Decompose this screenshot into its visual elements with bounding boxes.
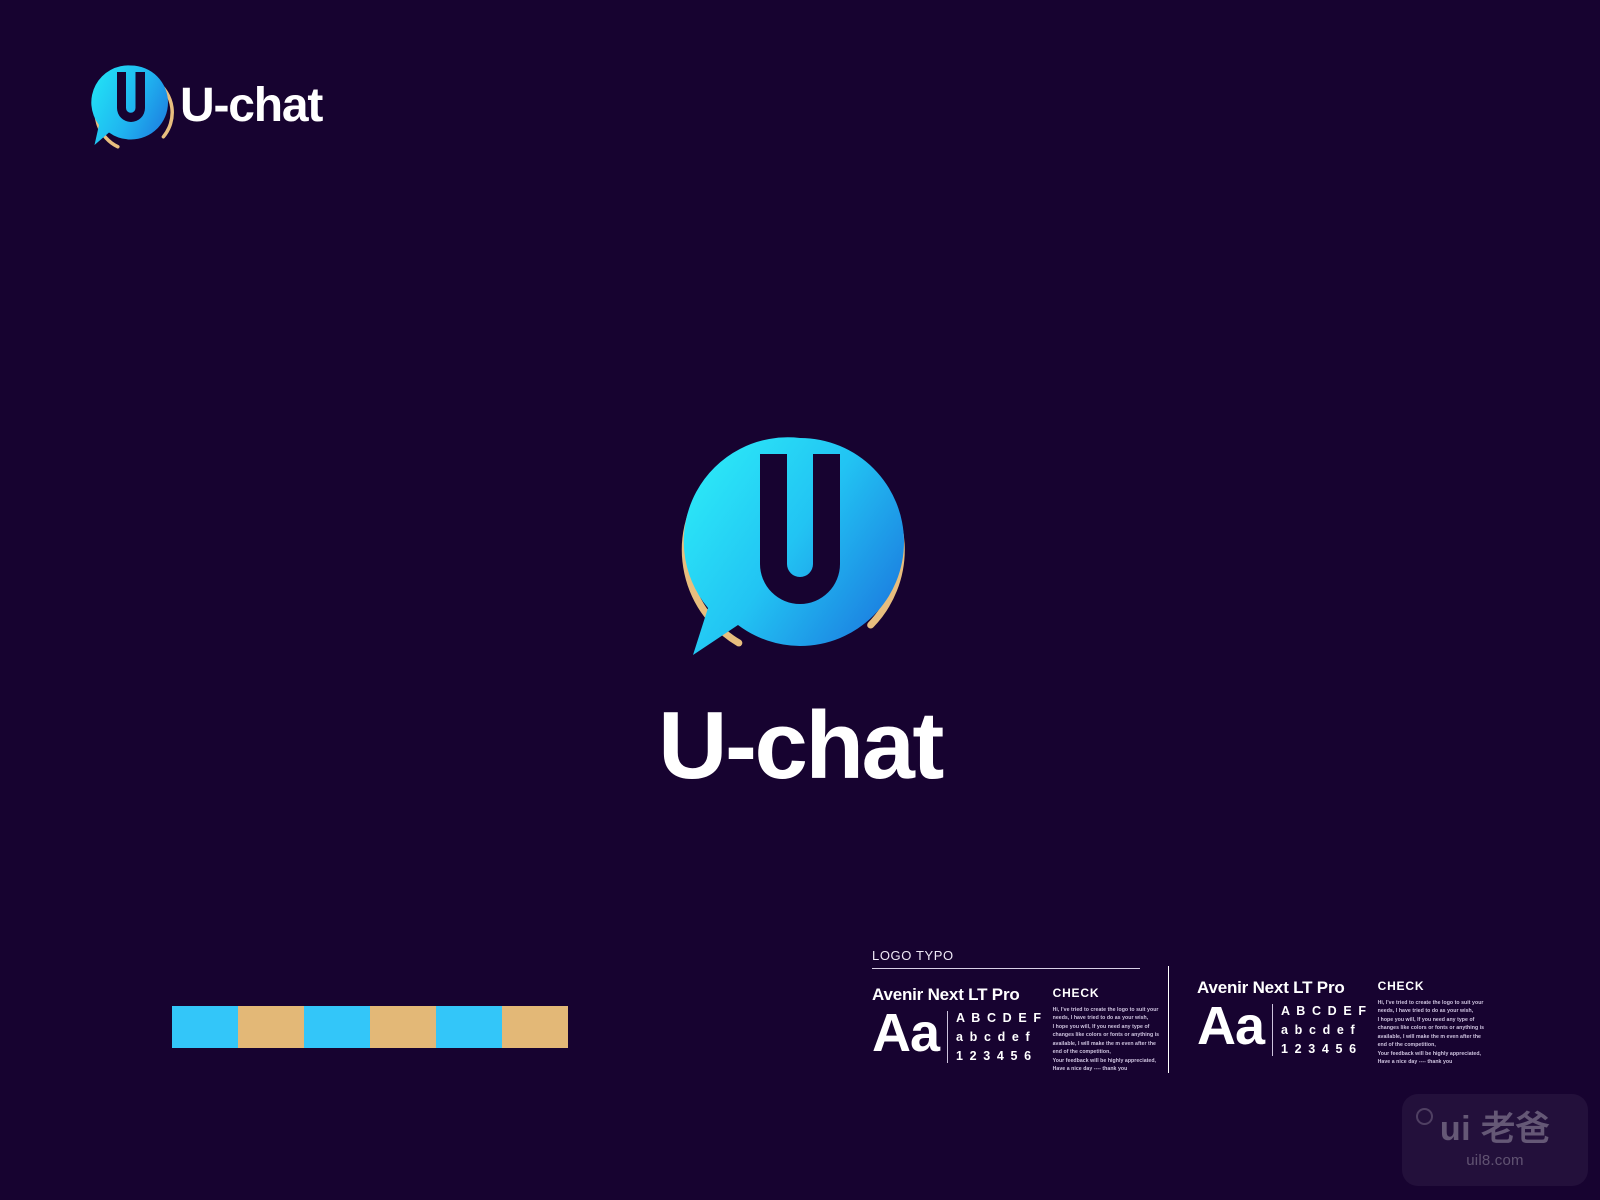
check-line: Your feedback will be highly appreciated… <box>1378 1050 1496 1058</box>
watermark-logo-text: ui 老爸 <box>1440 1112 1550 1146</box>
primary-logo-lockup: U-chat <box>0 412 1600 794</box>
glyph-row-numerals: 1 2 3 4 5 6 <box>956 1047 1043 1066</box>
watermark-dot-icon <box>1416 1108 1433 1125</box>
check-line: available, I will make the m even after … <box>1378 1033 1496 1041</box>
typography-block-2: Avenir Next LT Pro Aa A B C D E F a b c … <box>1197 948 1465 1073</box>
palette-swatch-tan-2 <box>370 1006 436 1048</box>
u-chat-logo-icon-large <box>666 412 934 680</box>
check-line: needs, I have tried to do as your wish, <box>1378 1007 1496 1015</box>
check-title-1: CHECK <box>1053 986 1171 1000</box>
logo-typo-label: LOGO TYPO <box>872 948 1140 968</box>
palette-swatch-tan-1 <box>238 1006 304 1048</box>
check-line: Your feedback will be highly appreciated… <box>1053 1057 1171 1065</box>
design-canvas: U-chat U-chat <box>0 0 1600 1200</box>
check-line: Hi, I've tried to create the logo to sui… <box>1378 999 1496 1007</box>
glyph-rows-2: A B C D E F a b c d e f 1 2 3 4 5 6 <box>1281 1002 1368 1058</box>
palette-swatch-tan-3 <box>502 1006 568 1048</box>
check-line: changes like colors or fonts or anything… <box>1378 1024 1496 1032</box>
font-name-1: Avenir Next LT Pro <box>872 985 1043 1005</box>
u-chat-logo-icon <box>86 52 176 158</box>
check-line: needs, I have tried to do as your wish, <box>1053 1014 1171 1022</box>
typography-block-1: LOGO TYPO Avenir Next LT Pro Aa A B C D … <box>872 948 1140 1073</box>
check-paragraph-2: Hi, I've tried to create the logo to sui… <box>1378 999 1496 1066</box>
check-line: Have a nice day ---- thank you <box>1053 1065 1171 1073</box>
check-paragraph-1: Hi, I've tried to create the logo to sui… <box>1053 1006 1171 1073</box>
glyph-row-uppercase: A B C D E F <box>1281 1002 1368 1021</box>
glyph-rows-1: A B C D E F a b c d e f 1 2 3 4 5 6 <box>956 1009 1043 1065</box>
glyph-divider-rule <box>947 1011 948 1063</box>
check-line: Have a nice day ---- thank you <box>1378 1058 1496 1066</box>
primary-wordmark: U-chat <box>658 698 942 794</box>
check-line: I hope you will, If you need any type of <box>1378 1016 1496 1024</box>
palette-swatch-cyan-3 <box>436 1006 502 1048</box>
spacer <box>1197 948 1465 978</box>
header-wordmark: U-chat <box>180 82 322 130</box>
header-logo-lockup: U-chat <box>86 52 322 158</box>
check-line: end of the competition, <box>1053 1048 1171 1056</box>
u-chat-speech-bubble-logo-small <box>86 52 176 158</box>
font-name-2: Avenir Next LT Pro <box>1197 978 1368 998</box>
glyph-divider-rule <box>1272 1004 1273 1056</box>
check-line: I hope you will, If you need any type of <box>1053 1023 1171 1031</box>
glyph-row-lowercase: a b c d e f <box>1281 1021 1368 1040</box>
check-line: Hi, I've tried to create the logo to sui… <box>1053 1006 1171 1014</box>
u-chat-speech-bubble-logo-large <box>666 412 934 680</box>
check-line: changes like colors or fonts or anything… <box>1053 1031 1171 1039</box>
glyph-row-numerals: 1 2 3 4 5 6 <box>1281 1040 1368 1059</box>
font-specimen-1: Aa <box>872 1009 939 1059</box>
watermark-domain-text: uil8.com <box>1466 1153 1523 1168</box>
site-watermark: ui 老爸 uil8.com <box>1402 1094 1588 1186</box>
check-line: available, I will make the m even after … <box>1053 1040 1171 1048</box>
palette-swatch-cyan-1 <box>172 1006 238 1048</box>
check-line: end of the competition, <box>1378 1041 1496 1049</box>
glyph-row-uppercase: A B C D E F <box>956 1009 1043 1028</box>
color-palette <box>172 1006 568 1048</box>
typography-section: LOGO TYPO Avenir Next LT Pro Aa A B C D … <box>872 948 1500 1073</box>
glyph-row-lowercase: a b c d e f <box>956 1028 1043 1047</box>
typography-section-divider <box>1168 966 1169 1073</box>
font-specimen-2: Aa <box>1197 1002 1264 1052</box>
typo-divider-rule <box>872 968 1140 969</box>
check-title-2: CHECK <box>1378 979 1496 993</box>
palette-swatch-cyan-2 <box>304 1006 370 1048</box>
